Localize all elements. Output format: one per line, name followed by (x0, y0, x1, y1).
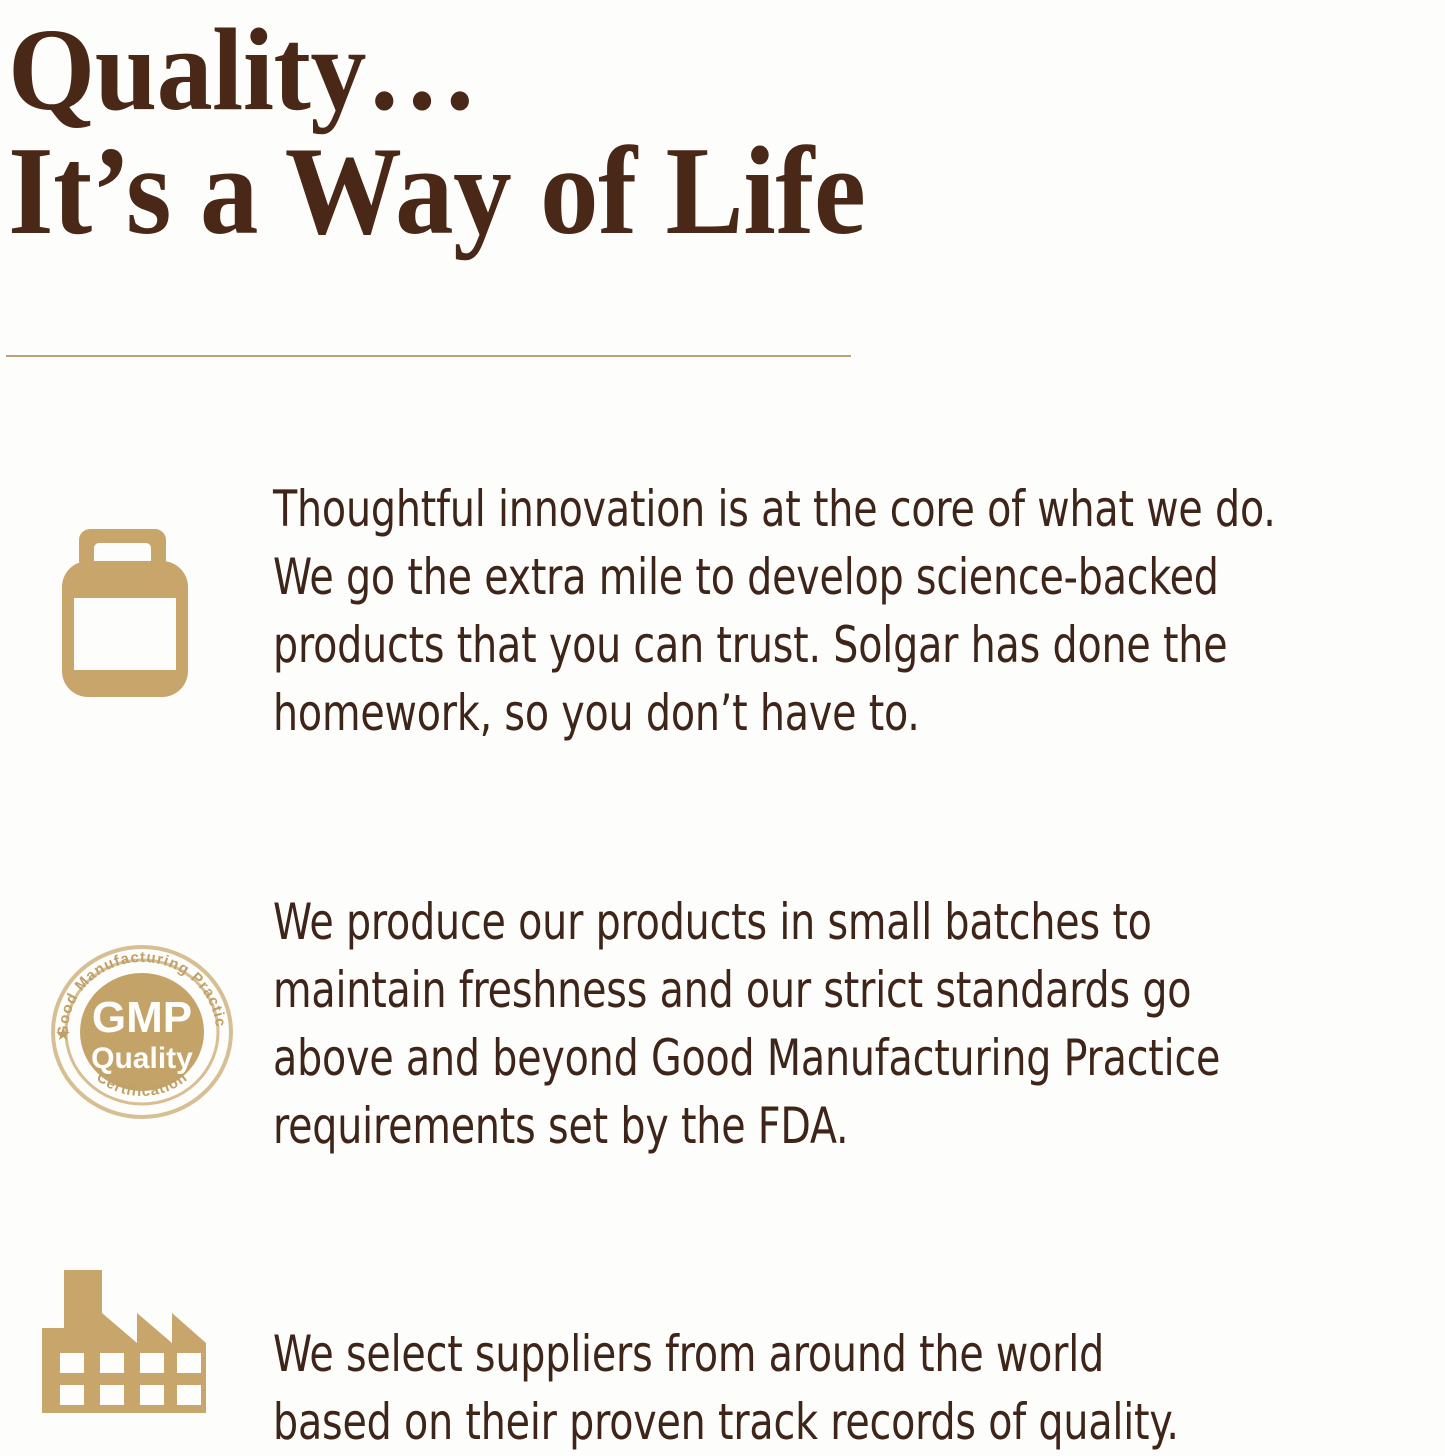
feature-text-line: products that you can trust. Solgar has … (273, 611, 1294, 679)
feature-text-line: We produce our products in small batches… (273, 888, 1294, 956)
star-icon: ★ (55, 1024, 71, 1044)
feature-icon-cell: Good Manufacturing Practice Certificatio… (20, 880, 240, 1060)
gmp-quality-label: Quality (91, 1042, 193, 1075)
supplement-bottle-icon (62, 525, 188, 697)
feature-text-line: We select suppliers from around the worl… (273, 1320, 1294, 1388)
feature-text-line: maintain freshness and our strict standa… (273, 956, 1294, 1024)
feature-text-line: We go the extra mile to develop science-… (273, 543, 1294, 611)
feature-text-line: Thoughtful innovation is at the core of … (273, 475, 1294, 543)
feature-text-line: above and beyond Good Manufacturing Prac… (273, 1024, 1294, 1092)
quality-way-of-life-panel: Quality… It’s a Way of Life Thoughtful i… (0, 0, 1445, 1445)
feature-text-line: based on their proven track records of q… (273, 1388, 1294, 1456)
gmp-quality-seal-icon: Good Manufacturing Practice Certificatio… (34, 928, 250, 1136)
feature-text: We select suppliers from around the worl… (273, 1320, 1433, 1456)
gmp-center-label: GMP (92, 993, 192, 1042)
feature-text-line: requirements set by the FDA. (273, 1092, 1294, 1160)
feature-text: We produce our products in small batches… (273, 888, 1433, 1160)
feature-text: Thoughtful innovation is at the core of … (273, 475, 1433, 747)
feature-icon-cell (20, 475, 240, 655)
feature-text-line: homework, so you don’t have to. (273, 679, 1294, 747)
factory-icon (42, 1265, 206, 1413)
feature-icon-cell (20, 1265, 240, 1445)
feature-list: Thoughtful innovation is at the core of … (0, 0, 1445, 1445)
